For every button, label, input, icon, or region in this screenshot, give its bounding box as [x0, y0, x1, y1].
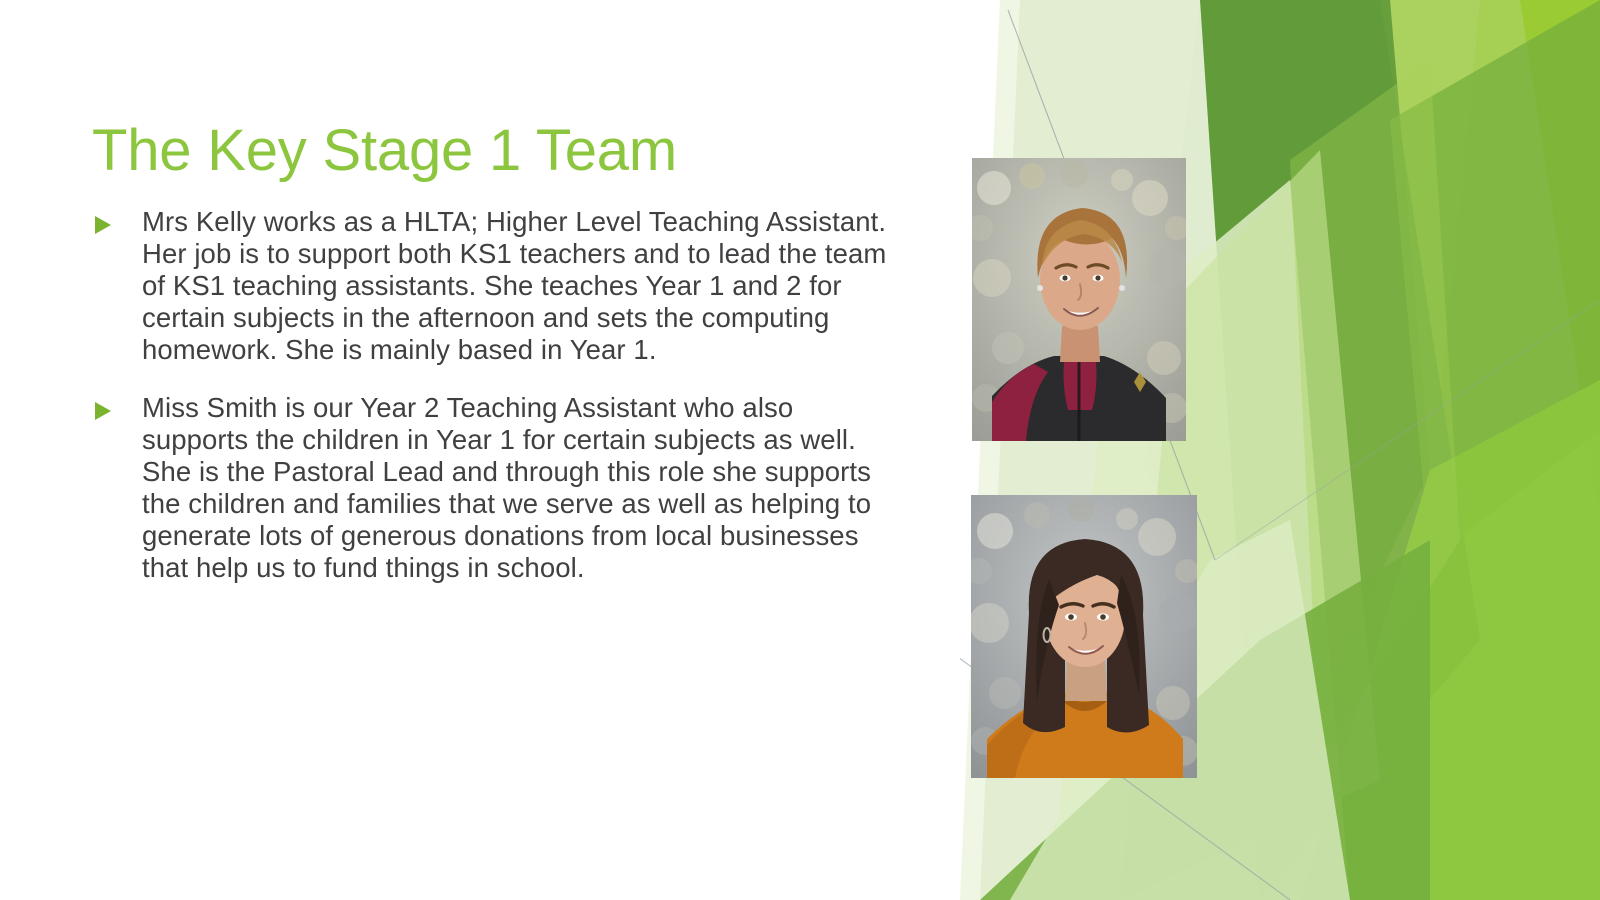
bullet-text: Mrs Kelly works as a HLTA; Higher Level … [142, 206, 902, 366]
staff-portrait-mrs-kelly [972, 158, 1186, 441]
slide-title: The Key Stage 1 Team [92, 121, 952, 182]
bullet-item: Mrs Kelly works as a HLTA; Higher Level … [92, 206, 902, 366]
facet-hairline-mid [1215, 300, 1600, 560]
triangle-right-bullet-icon [92, 392, 142, 422]
facet-shape-mid [1390, 0, 1600, 560]
facet-shape-highlight [1290, 60, 1460, 760]
facet-shape-light [1320, 0, 1600, 900]
facet-shape-bright-right [1390, 0, 1600, 900]
triangle-right-bullet-icon [92, 206, 142, 236]
facet-shape-bright-lower [1300, 380, 1600, 900]
presentation-slide: The Key Stage 1 Team Mrs Kelly works as … [0, 0, 1600, 900]
body-placeholder: Mrs Kelly works as a HLTA; Higher Level … [92, 206, 902, 610]
bullet-item: Miss Smith is our Year 2 Teaching Assist… [92, 392, 902, 584]
bullet-text: Miss Smith is our Year 2 Teaching Assist… [142, 392, 902, 584]
staff-portrait-miss-smith [971, 495, 1197, 778]
